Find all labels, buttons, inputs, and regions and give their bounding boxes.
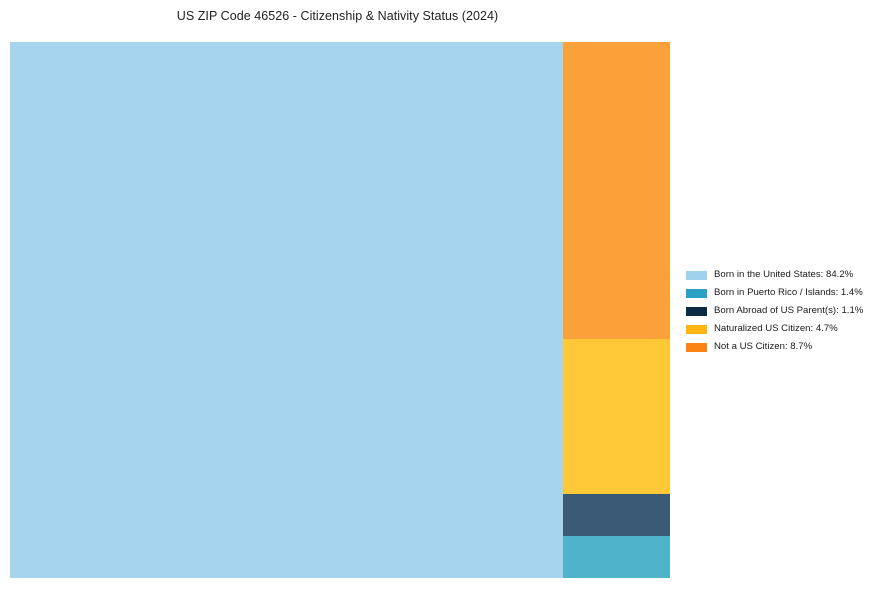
legend-item[interactable]: Born Abroad of US Parent(s): 1.1% <box>686 302 884 320</box>
legend-item-label: Born in the United States: 84.2% <box>714 270 853 280</box>
treemap-tile[interactable] <box>563 536 670 578</box>
legend-item-label: Naturalized US Citizen: 4.7% <box>714 324 838 334</box>
legend-color-swatch <box>686 343 707 352</box>
legend-color-swatch <box>686 289 707 298</box>
treemap-tile[interactable] <box>563 339 670 494</box>
treemap-tile[interactable] <box>563 494 670 536</box>
legend-item-label: Born Abroad of US Parent(s): 1.1% <box>714 306 863 316</box>
legend-item[interactable]: Born in the United States: 84.2% <box>686 266 884 284</box>
legend-item[interactable]: Not a US Citizen: 8.7% <box>686 338 884 356</box>
treemap-tile[interactable] <box>10 42 563 578</box>
legend-color-swatch <box>686 325 707 334</box>
chart-legend: Born in the United States: 84.2%Born in … <box>686 266 884 356</box>
legend-color-swatch <box>686 271 707 280</box>
legend-item-label: Not a US Citizen: 8.7% <box>714 342 812 352</box>
treemap-chart: US ZIP Code 46526 - Citizenship & Nativi… <box>0 0 889 590</box>
legend-item-label: Born in Puerto Rico / Islands: 1.4% <box>714 288 863 298</box>
treemap-plot-area <box>10 42 670 578</box>
legend-item[interactable]: Naturalized US Citizen: 4.7% <box>686 320 884 338</box>
legend-color-swatch <box>686 307 707 316</box>
chart-title: US ZIP Code 46526 - Citizenship & Nativi… <box>0 9 675 23</box>
treemap-tile[interactable] <box>563 42 670 339</box>
legend-item[interactable]: Born in Puerto Rico / Islands: 1.4% <box>686 284 884 302</box>
